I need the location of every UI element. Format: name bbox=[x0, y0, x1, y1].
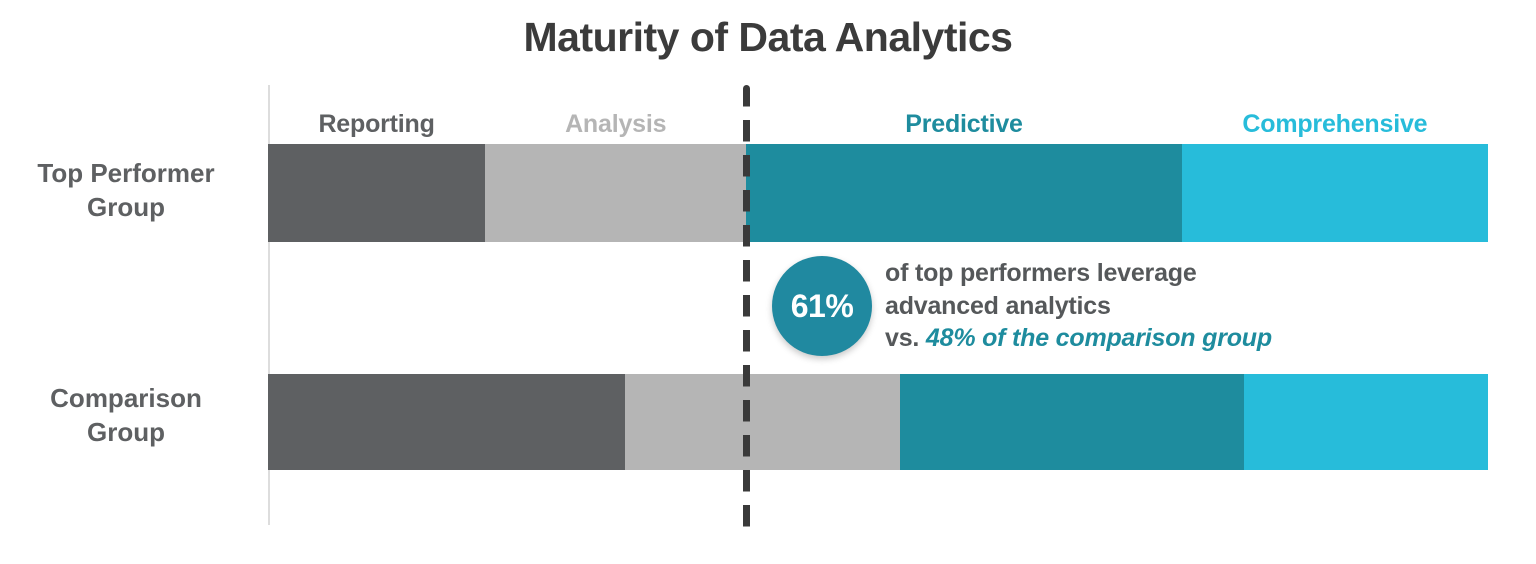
annotation-line-2: advanced analytics bbox=[885, 290, 1272, 323]
reference-line-dashed bbox=[743, 85, 750, 531]
bar-segment-reporting bbox=[268, 144, 485, 242]
row-label-line2: Group bbox=[0, 415, 252, 449]
legend-label-comprehensive: Comprehensive bbox=[1182, 110, 1488, 139]
bar-segment-comprehensive bbox=[1244, 374, 1488, 470]
bar-segment-comprehensive bbox=[1182, 144, 1488, 242]
annotation-line-3-emphasis: 48% of the comparison group bbox=[926, 324, 1272, 352]
bar-row-top-performer-group bbox=[268, 144, 1488, 242]
page-title: Maturity of Data Analytics bbox=[0, 14, 1536, 61]
bar-segment-analysis bbox=[485, 144, 746, 242]
bar-segment-predictive bbox=[900, 374, 1244, 470]
annotation-line-1: of top performers leverage bbox=[885, 257, 1272, 290]
bar-segment-analysis bbox=[625, 374, 900, 470]
row-label-line1: Top Performer bbox=[0, 156, 252, 190]
annotation-callout: 61% of top performers leverage advanced … bbox=[772, 255, 1272, 357]
status-badge: 61% bbox=[772, 256, 872, 356]
annotation-line-3-prefix: vs. bbox=[885, 324, 926, 352]
row-label-comparison-group: Comparison Group bbox=[0, 381, 252, 450]
annotation-line-3: vs. 48% of the comparison group bbox=[885, 322, 1272, 355]
bar-row-comparison-group bbox=[268, 374, 1488, 470]
legend-label-analysis: Analysis bbox=[485, 110, 746, 139]
row-label-top-performer-group: Top Performer Group bbox=[0, 156, 252, 225]
bar-segment-reporting bbox=[268, 374, 625, 470]
legend-label-predictive: Predictive bbox=[746, 110, 1182, 139]
row-label-line1: Comparison bbox=[0, 381, 252, 415]
legend-label-reporting: Reporting bbox=[268, 110, 485, 139]
bar-segment-predictive bbox=[746, 144, 1182, 242]
annotation-text: of top performers leverage advanced anal… bbox=[885, 257, 1272, 355]
row-label-line2: Group bbox=[0, 190, 252, 224]
